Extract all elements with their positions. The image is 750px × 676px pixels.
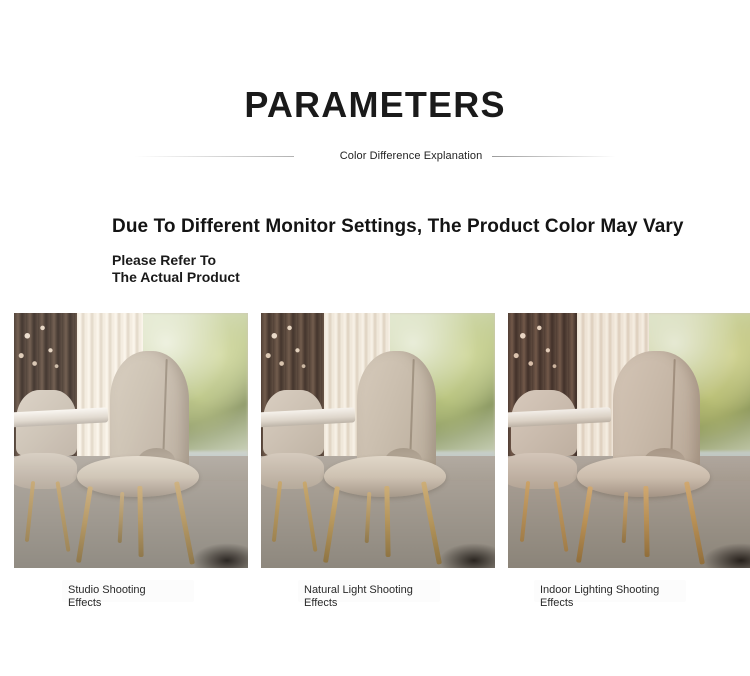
caption-natural-light-shooting: Natural Light Shooting Effects: [304, 584, 413, 610]
foreground-shadow: [192, 543, 248, 569]
blossom-branch: [261, 316, 317, 382]
header-section: PARAMETERS Color Difference Explanation: [0, 0, 750, 180]
page-title: PARAMETERS: [0, 84, 750, 126]
blossom-branch: [508, 316, 569, 382]
caption-studio-shooting: Studio Shooting Effects: [68, 584, 146, 610]
divider-left: [134, 156, 294, 157]
statement-subline: Please Refer To The Actual Product: [112, 252, 240, 286]
statement-headline: Due To Different Monitor Settings, The P…: [112, 216, 684, 238]
subtitle-label: Color Difference Explanation: [340, 150, 483, 162]
foreground-shadow: [703, 543, 750, 569]
photo-gallery: [14, 313, 750, 568]
blossom-branch: [14, 316, 70, 382]
chair-photo-studio: [14, 313, 248, 568]
chair-leg: [643, 486, 649, 557]
divider-right: [492, 156, 616, 157]
photo-card-indoor-lighting[interactable]: [508, 313, 750, 568]
subtitle-row: Color Difference Explanation: [0, 144, 750, 168]
chair-photo-indoor-lighting: [508, 313, 750, 568]
foreground-shadow: [439, 543, 495, 569]
photo-card-studio[interactable]: [14, 313, 248, 568]
chair-photo-natural-light: [261, 313, 495, 568]
background-chair-seat: [508, 453, 577, 489]
caption-indoor-lighting-shooting: Indoor Lighting Shooting Effects: [540, 584, 659, 610]
background-chair-seat: [261, 453, 324, 489]
photo-card-natural-light[interactable]: [261, 313, 495, 568]
background-chair-seat: [14, 453, 77, 489]
